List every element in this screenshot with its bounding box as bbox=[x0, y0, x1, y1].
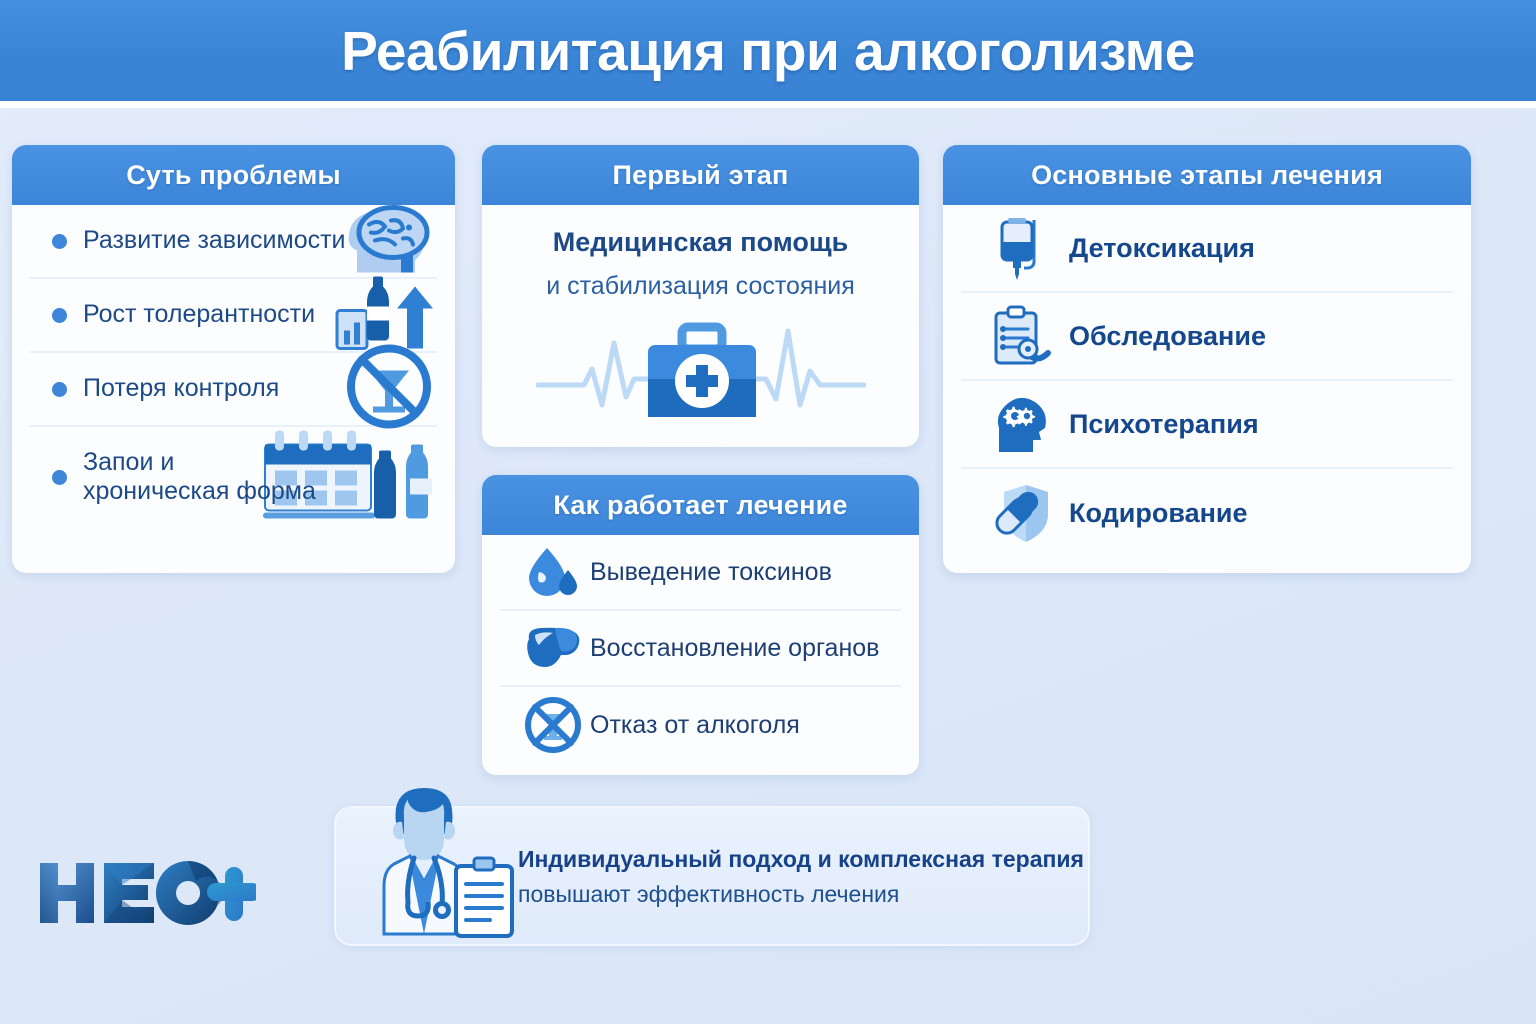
banner-text-block: Индивидуальный подход и комплексная тера… bbox=[518, 846, 1084, 908]
card-main-stages-header: Основные этапы лечения bbox=[943, 145, 1471, 205]
card-first-stage: Первый этап Медицинская помощь и стабили… bbox=[482, 145, 919, 447]
page-header: Реабилитация при алкоголизме bbox=[0, 0, 1536, 101]
bullet-dot-icon bbox=[52, 470, 67, 485]
infographic-canvas: Реабилитация при алкоголизме Суть пробле… bbox=[0, 0, 1536, 1024]
logo-neo-plus-icon bbox=[36, 855, 256, 931]
doctor-clipboard-icon bbox=[358, 786, 528, 951]
card-how-header: Как работает лечение bbox=[482, 475, 919, 535]
list-item-label: Кодирование bbox=[1069, 498, 1248, 529]
list-item[interactable]: Запои и хроническая форма bbox=[30, 427, 437, 527]
pill-shield-icon bbox=[989, 482, 1055, 544]
bullet-dot-icon bbox=[52, 382, 67, 397]
list-item[interactable]: Восстановление органов bbox=[500, 611, 901, 687]
card-how-treatment-works: Как работает лечение Выведение токсинов bbox=[482, 475, 919, 775]
water-drop-icon bbox=[524, 546, 582, 598]
clipboard-stethoscope-icon bbox=[989, 305, 1055, 367]
first-stage-line-2: и стабилизация состояния bbox=[506, 272, 895, 301]
iv-drip-icon bbox=[989, 216, 1055, 280]
card-problem: Суть проблемы Развитие зависимости bbox=[12, 145, 455, 573]
list-item-label: Восстановление органов bbox=[590, 634, 879, 663]
list-item[interactable]: Развитие зависимости bbox=[30, 205, 437, 279]
page-title: Реабилитация при алкоголизме bbox=[341, 19, 1195, 83]
head-gears-icon bbox=[989, 394, 1055, 454]
list-item-label: Запои и хроническая форма bbox=[83, 448, 316, 507]
list-item-label: Рост толерантности bbox=[83, 300, 315, 330]
card-first-stage-header: Первый этап bbox=[482, 145, 919, 205]
list-item-label: Выведение токсинов bbox=[590, 558, 832, 587]
first-aid-kit-heartbeat-icon bbox=[506, 313, 895, 425]
card-main-stages-title: Основные этапы лечения bbox=[1031, 160, 1383, 191]
bottle-growth-arrow-icon bbox=[335, 275, 435, 356]
first-stage-line-1: Медицинская помощь bbox=[506, 227, 895, 258]
bullet-dot-icon bbox=[52, 234, 67, 249]
list-item[interactable]: Кодирование bbox=[961, 469, 1453, 557]
list-item[interactable]: Обследование bbox=[961, 293, 1453, 381]
card-problem-header: Суть проблемы bbox=[12, 145, 455, 205]
list-item-label: Детоксикация bbox=[1069, 233, 1255, 264]
list-item-label: Развитие зависимости bbox=[83, 226, 346, 256]
list-item-label: Обследование bbox=[1069, 321, 1266, 352]
list-item-label: Психотерапия bbox=[1069, 409, 1259, 440]
list-item[interactable]: Отказ от алкоголя bbox=[500, 687, 901, 763]
list-item[interactable]: Рост толерантности bbox=[30, 279, 437, 353]
list-item[interactable]: Детоксикация bbox=[961, 205, 1453, 293]
liver-icon bbox=[524, 625, 582, 671]
brain-head-icon bbox=[339, 203, 435, 280]
list-item[interactable]: Психотерапия bbox=[961, 381, 1453, 469]
brand-logo[interactable] bbox=[36, 855, 256, 936]
bullet-dot-icon bbox=[52, 308, 67, 323]
card-problem-body: Развитие зависимости Рос bbox=[12, 205, 455, 527]
card-main-stages: Основные этапы лечения Детоксикация bbox=[943, 145, 1471, 573]
card-first-stage-body: Медицинская помощь и стабилизация состоя… bbox=[482, 205, 919, 437]
no-drink-circle-icon bbox=[524, 696, 582, 754]
summary-banner: Индивидуальный подход и комплексная тера… bbox=[334, 806, 1090, 946]
card-main-stages-body: Детоксикация bbox=[943, 205, 1471, 557]
card-problem-title: Суть проблемы bbox=[126, 160, 341, 191]
header-divider bbox=[0, 101, 1536, 108]
banner-line-1: Индивидуальный подход и комплексная тера… bbox=[518, 846, 1084, 873]
list-item-label: Отказ от алкоголя bbox=[590, 711, 800, 740]
list-item[interactable]: Потеря контроля bbox=[30, 353, 437, 427]
no-alcohol-icon bbox=[343, 341, 435, 438]
card-first-stage-title: Первый этап bbox=[613, 160, 789, 191]
list-item-label: Потеря контроля bbox=[83, 374, 279, 404]
list-item[interactable]: Выведение токсинов bbox=[500, 535, 901, 611]
banner-line-2: повышают эффективность лечения bbox=[518, 881, 1084, 908]
card-how-body: Выведение токсинов Восстановление органо… bbox=[482, 535, 919, 763]
card-how-title: Как работает лечение bbox=[553, 490, 847, 521]
